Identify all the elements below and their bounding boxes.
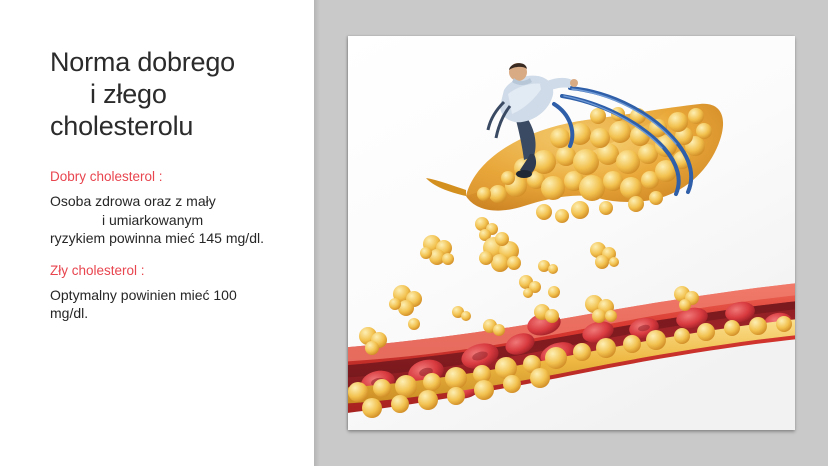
title-line-2: i złego xyxy=(50,78,300,110)
bad-cholesterol-heading: Zły cholesterol : xyxy=(50,262,275,280)
body-content: Dobry cholesterol : Osoba zdrowa oraz z … xyxy=(50,168,275,332)
cholesterol-illustration-svg xyxy=(348,36,795,430)
bad-cholesterol-text: Optymalny powinien mieć 100 mg/dl. xyxy=(50,286,275,323)
good-cholesterol-heading: Dobry cholesterol : xyxy=(50,168,275,186)
good-cholesterol-text: Osoba zdrowa oraz z mały i umiarkowanym … xyxy=(50,192,275,248)
text-panel: Norma dobrego i złego cholesterolu Dobry… xyxy=(0,0,314,466)
panel-edge-shadow xyxy=(314,0,320,466)
good-text-line-2: i umiarkowanym xyxy=(50,211,275,230)
good-text-line-4: mg/dl. xyxy=(226,230,264,246)
title-line-3: cholesterolu xyxy=(50,110,300,142)
good-text-line-1: Osoba zdrowa oraz z mały xyxy=(50,193,216,209)
slide: Norma dobrego i złego cholesterolu Dobry… xyxy=(0,0,828,466)
cholesterol-illustration xyxy=(348,36,795,430)
title-line-1: Norma dobrego xyxy=(50,46,300,78)
bad-text-line-1: Optymalny powinien mieć 100 xyxy=(50,287,237,303)
good-text-line-3: ryzykiem powinna mieć 145 xyxy=(50,230,222,246)
page-title: Norma dobrego i złego cholesterolu xyxy=(50,46,300,142)
bad-text-line-2: mg/dl. xyxy=(50,305,88,321)
